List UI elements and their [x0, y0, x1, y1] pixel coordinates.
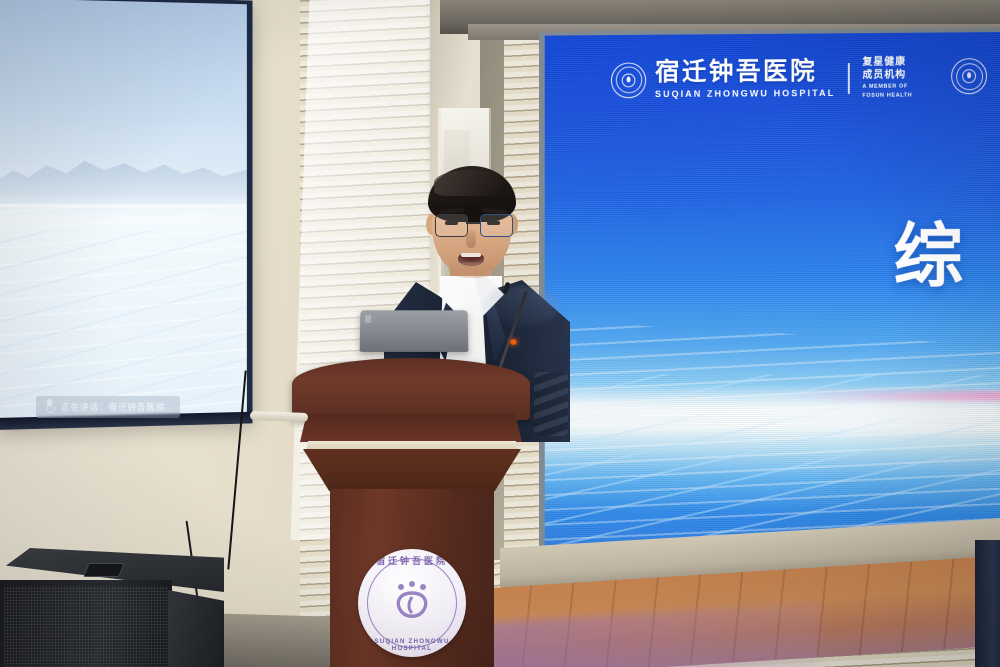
seal-center-mark [626, 76, 630, 82]
screenshot-root: 明 正在讲话：宿迁钟吾医院 宿迁钟吾医院 SUQIAN ZHONGWU HOSP… [0, 0, 1000, 667]
stage-curtain [975, 540, 1000, 667]
hospital-name-en: SUQIAN ZHONGWU HOSPITAL [655, 88, 835, 99]
loudspeaker-cabinet [0, 548, 224, 667]
hospital-logo-lockup: 宿迁钟吾医院 SUQIAN ZHONGWU HOSPITAL 复星健康 成员机构… [611, 57, 912, 102]
hospital-name-cn: 宿迁钟吾医院 [655, 59, 835, 85]
podium-front-panel [300, 414, 522, 442]
projection-screen-frame: 明 [0, 0, 252, 428]
presenter-nose [466, 230, 476, 248]
laptop-computer [360, 310, 469, 352]
presenter-hair-highlight [434, 170, 504, 196]
caption-text: 正在讲话：宿迁钟吾医院 [61, 401, 166, 413]
microphone-status-indicator [510, 339, 517, 345]
led-pink-accent [795, 390, 1000, 401]
podium-hospital-emblem: 宿迁钟吾医院 SUQIAN ZHONGWU HOSPITAL [358, 549, 466, 657]
podium-accent-stripe [306, 441, 518, 450]
hospital-name-block: 宿迁钟吾医院 SUQIAN ZHONGWU HOSPITAL [655, 59, 835, 99]
emblem-flower-icon [389, 579, 435, 625]
fosun-affiliate-block: 复星健康 成员机构 A MEMBER OF FOSUN HEALTH [862, 57, 912, 100]
speaker-side-panel [168, 590, 224, 667]
led-headline-text: 综 [893, 200, 967, 301]
speaker-grille [4, 586, 168, 667]
emblem-name-cn: 宿迁钟吾医院 [358, 554, 466, 567]
projection-screen-surface: 明 [0, 0, 247, 422]
eyeglass-lens-right [480, 214, 513, 237]
podium-desktop [292, 358, 530, 420]
live-caption-bar: 正在讲话：宿迁钟吾医院 [36, 396, 180, 418]
affiliate-en-line1: A MEMBER OF [862, 84, 912, 91]
hospital-seal-icon [611, 62, 646, 98]
podium-midsection [303, 449, 521, 491]
speaker-handle [83, 563, 125, 577]
seal-center-mark-secondary [967, 72, 971, 78]
affiliate-cn-line1: 复星健康 [862, 57, 912, 70]
led-screen-frame: 宿迁钟吾医院 SUQIAN ZHONGWU HOSPITAL 复星健康 成员机构… [539, 28, 1000, 556]
eyeglass-bridge [466, 222, 480, 224]
slide-title-text: 明 [0, 0, 4, 76]
affiliate-cn-line2: 成员机构 [862, 69, 912, 82]
presenter-chin-shadow [448, 262, 496, 278]
emblem-name-en: SUQIAN ZHONGWU HOSPITAL [358, 638, 466, 652]
microphone-icon [46, 399, 53, 414]
hospital-seal-icon-secondary [951, 58, 987, 94]
affiliate-en-line2: FOSUN HEALTH [862, 93, 912, 100]
slide-light-streaks-secondary [0, 230, 247, 421]
presenter-sleeve [534, 372, 568, 436]
presenter-teeth [461, 253, 481, 257]
eyeglass-lens-left [435, 214, 468, 237]
logo-divider [848, 63, 849, 94]
led-screen-surface: 宿迁钟吾医院 SUQIAN ZHONGWU HOSPITAL 复星健康 成员机构… [545, 32, 1000, 552]
